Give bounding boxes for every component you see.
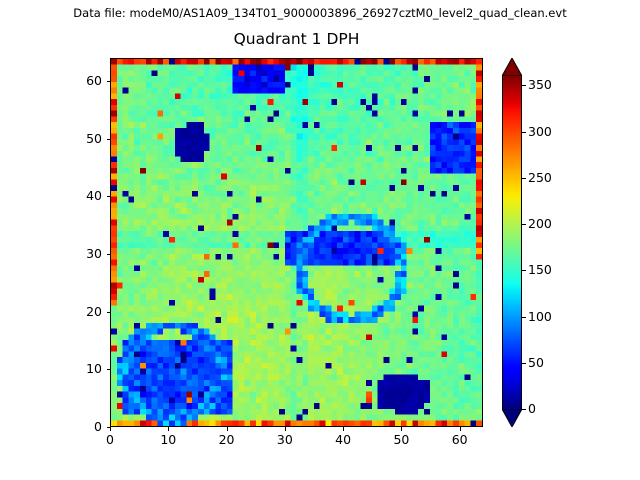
x-tick-mark bbox=[343, 427, 344, 431]
figure-canvas: Data file: modeM0/AS1A09_134T01_90000038… bbox=[0, 0, 640, 480]
colorbar-tick-mark bbox=[522, 317, 526, 318]
colorbar-tick-label: 200 bbox=[528, 217, 552, 231]
colorbar[interactable] bbox=[502, 76, 522, 409]
colorbar-tick-mark bbox=[522, 363, 526, 364]
y-tick-mark bbox=[107, 427, 111, 428]
colorbar-tick-mark bbox=[522, 270, 526, 271]
y-tick-mark bbox=[107, 139, 111, 140]
x-tick-mark bbox=[401, 427, 402, 431]
colorbar-extend-bottom-arrow-icon bbox=[502, 409, 522, 427]
x-tick-label: 40 bbox=[335, 433, 351, 447]
colorbar-tick-mark bbox=[522, 132, 526, 133]
y-tick-label: 60 bbox=[68, 74, 102, 88]
x-tick-mark bbox=[168, 427, 169, 431]
heatmap-plot-area[interactable] bbox=[110, 58, 483, 427]
x-tick-label: 0 bbox=[106, 433, 114, 447]
x-tick-label: 10 bbox=[160, 433, 176, 447]
x-tick-mark bbox=[285, 427, 286, 431]
page-title: Quadrant 1 DPH bbox=[110, 30, 483, 49]
colorbar-tick-mark bbox=[522, 409, 526, 410]
colorbar-tick-label: 250 bbox=[528, 171, 552, 185]
y-tick-label: 50 bbox=[68, 132, 102, 146]
colorbar-extend-top-arrow-icon bbox=[502, 58, 522, 76]
colorbar-gradient bbox=[502, 76, 522, 409]
colorbar-tick-label: 150 bbox=[528, 263, 552, 277]
colorbar-tick-label: 50 bbox=[528, 356, 544, 370]
colorbar-tick-mark bbox=[522, 85, 526, 86]
x-tick-mark bbox=[460, 427, 461, 431]
datafile-label: Data file: modeM0/AS1A09_134T01_90000038… bbox=[0, 6, 640, 20]
y-tick-mark bbox=[107, 312, 111, 313]
y-tick-label: 0 bbox=[68, 420, 102, 434]
colorbar-tick-label: 350 bbox=[528, 78, 552, 92]
colorbar-tick-label: 300 bbox=[528, 125, 552, 139]
colorbar-tick-mark bbox=[522, 178, 526, 179]
y-tick-mark bbox=[107, 81, 111, 82]
x-tick-label: 60 bbox=[452, 433, 468, 447]
colorbar-tick-label: 100 bbox=[528, 310, 552, 324]
y-tick-label: 20 bbox=[68, 305, 102, 319]
y-tick-mark bbox=[107, 196, 111, 197]
x-tick-mark bbox=[227, 427, 228, 431]
y-tick-mark bbox=[107, 369, 111, 370]
y-tick-label: 30 bbox=[68, 247, 102, 261]
x-tick-mark bbox=[110, 427, 111, 431]
y-tick-mark bbox=[107, 254, 111, 255]
x-tick-label: 20 bbox=[219, 433, 235, 447]
heatmap-image bbox=[111, 59, 482, 426]
x-tick-label: 50 bbox=[393, 433, 409, 447]
colorbar-tick-label: 0 bbox=[528, 402, 536, 416]
y-tick-label: 10 bbox=[68, 362, 102, 376]
colorbar-tick-mark bbox=[522, 224, 526, 225]
y-tick-label: 40 bbox=[68, 189, 102, 203]
x-tick-label: 30 bbox=[277, 433, 293, 447]
